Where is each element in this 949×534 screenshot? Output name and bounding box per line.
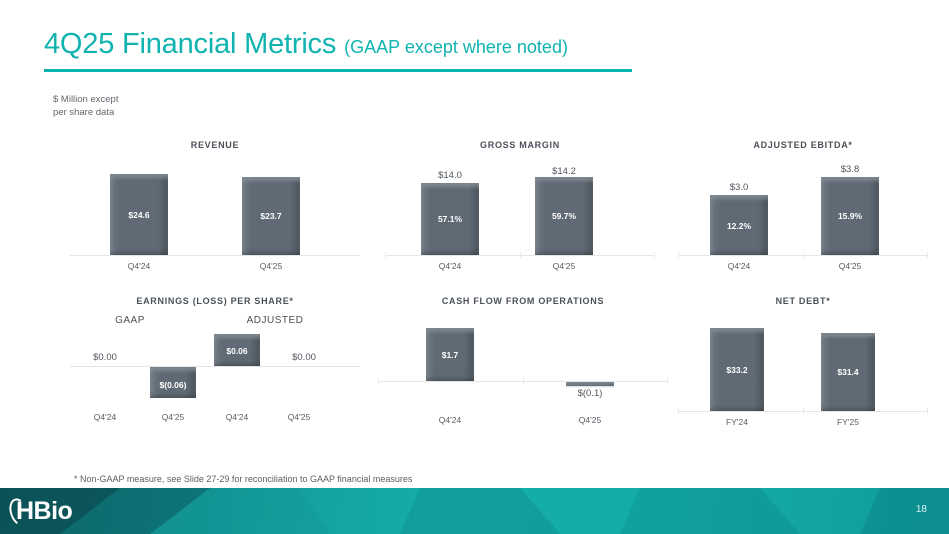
bar-inside-label-ebitda-q424: 12.2%: [710, 221, 768, 231]
cat-label-cash-flow-1: Q4'25: [566, 415, 614, 425]
cat-label-gross-margin-0: Q4'24: [421, 261, 479, 271]
bar-label-eps-adjusted-q425: $0.00: [275, 352, 333, 363]
eps-group-label-gaap: GAAP: [80, 315, 180, 326]
bar-label-eps-gaap-q425: $(0.06): [150, 380, 196, 390]
chart-title-net-debt: NET DEBT*: [678, 296, 928, 306]
bar-inside-label-ebitda-q425: 15.9%: [821, 211, 879, 221]
title-underline-rule: [44, 69, 632, 72]
bar-adjusted-ebitda-q425: 15.9%: [821, 177, 879, 255]
bar-toplabel-gm-q424: $14.0: [421, 170, 479, 181]
chart-earnings-per-share: EARNINGS (LOSS) PER SHARE* GAAP ADJUSTED…: [70, 296, 360, 431]
chart-adjusted-ebitda: ADJUSTED EBITDA* $3.0 12.2% $3.8 15.9% Q…: [678, 140, 928, 275]
bar-label-cash-flow-q424: $1.7: [426, 350, 474, 360]
bar-label-eps-adjusted-q424: $0.06: [214, 346, 260, 356]
cat-label-eps-3: Q4'25: [270, 412, 328, 422]
chart-revenue: REVENUE $24.6 $23.7 Q4'24 Q4'25: [70, 140, 360, 275]
chart-title-cash-flow: CASH FLOW FROM OPERATIONS: [378, 296, 668, 306]
chart-title-gross-margin: GROSS MARGIN: [385, 140, 655, 150]
bar-label-revenue-q424: $24.6: [110, 210, 168, 220]
footnote: * Non-GAAP measure, see Slide 27-29 for …: [74, 474, 412, 484]
bar-eps-gaap-q425: $(0.06): [150, 367, 196, 398]
chart-title-adjusted-ebitda: ADJUSTED EBITDA*: [678, 140, 928, 150]
bar-eps-adjusted-q424: $0.06: [214, 334, 260, 366]
bar-net-debt-fy25: $31.4: [821, 333, 875, 411]
bar-adjusted-ebitda-q424: 12.2%: [710, 195, 768, 255]
page-title: 4Q25 Financial Metrics(GAAP except where…: [44, 28, 568, 61]
page-title-subtitle: (GAAP except where noted): [344, 37, 568, 57]
bar-label-revenue-q425: $23.7: [242, 211, 300, 221]
bar-gross-margin-q424: 57.1%: [421, 183, 479, 255]
bar-label-eps-gaap-q424: $0.00: [76, 352, 134, 363]
chart-cash-flow-from-operations: CASH FLOW FROM OPERATIONS $1.7 $(0.1) Q4…: [378, 296, 668, 431]
bar-label-cash-flow-q425: $(0.1): [561, 388, 619, 399]
bar-toplabel-ebitda-q424: $3.0: [710, 182, 768, 193]
cat-label-revenue-0: Q4'24: [110, 261, 168, 271]
bar-cash-flow-q424: $1.7: [426, 328, 474, 381]
cat-label-eps-1: Q4'25: [144, 412, 202, 422]
bar-revenue-q425: $23.7: [242, 177, 300, 255]
chart-title-eps: EARNINGS (LOSS) PER SHARE*: [70, 296, 360, 306]
cat-label-adjusted-ebitda-1: Q4'25: [821, 261, 879, 271]
cat-label-adjusted-ebitda-0: Q4'24: [710, 261, 768, 271]
cat-label-net-debt-0: FY'24: [710, 417, 764, 427]
cat-label-revenue-1: Q4'25: [242, 261, 300, 271]
cat-label-eps-2: Q4'24: [208, 412, 266, 422]
bar-label-net-debt-fy24: $33.2: [710, 365, 764, 375]
bar-gross-margin-q425: 59.7%: [535, 177, 593, 255]
bar-net-debt-fy24: $33.2: [710, 328, 764, 411]
chart-title-revenue: REVENUE: [70, 140, 360, 150]
bar-label-net-debt-fy25: $31.4: [821, 367, 875, 377]
chart-net-debt: NET DEBT* $33.2 $31.4 FY'24 FY'25: [678, 296, 928, 431]
bar-revenue-q424: $24.6: [110, 174, 168, 255]
bar-inside-label-gm-q425: 59.7%: [535, 211, 593, 221]
page-title-main: 4Q25 Financial Metrics: [44, 28, 336, 60]
units-note: $ Million except per share data: [53, 93, 118, 119]
bar-cash-flow-q425: [566, 382, 614, 386]
bar-toplabel-gm-q425: $14.2: [535, 166, 593, 177]
footer-band: HBio 18: [0, 488, 949, 534]
page-number: 18: [916, 504, 927, 515]
cat-label-gross-margin-1: Q4'25: [535, 261, 593, 271]
bar-toplabel-ebitda-q425: $3.8: [821, 164, 879, 175]
eps-group-label-adjusted: ADJUSTED: [220, 315, 330, 326]
hbio-logo: HBio: [16, 496, 72, 526]
cat-label-eps-0: Q4'24: [76, 412, 134, 422]
cat-label-net-debt-1: FY'25: [821, 417, 875, 427]
cat-label-cash-flow-0: Q4'24: [426, 415, 474, 425]
footer-facet-pattern: [0, 488, 949, 534]
bar-inside-label-gm-q424: 57.1%: [421, 214, 479, 224]
eps-zero-axis: [70, 366, 360, 367]
chart-gross-margin: GROSS MARGIN $14.0 57.1% $14.2 59.7% Q4'…: [385, 140, 655, 275]
